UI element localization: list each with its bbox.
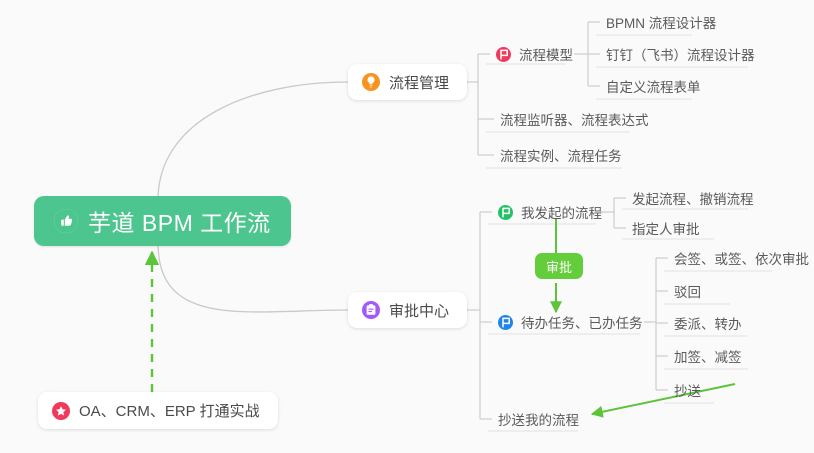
node-countersign[interactable]: 会签、或签、依次审批 [668,245,814,271]
node-label: 委派、转办 [674,313,742,333]
node-process-model[interactable]: 流程模型 [490,41,581,67]
mindmap-canvas: 芋道 BPM 工作流 流程管理 流程模型 BPMN 流程设计器 钉钉（飞书）流程… [0,0,814,453]
node-my-started-process[interactable]: 我发起的流程 [492,199,610,225]
node-label: 会签、或签、依次审批 [674,248,809,268]
node-label: 加签、减签 [674,346,742,366]
node-label: 流程模型 [519,44,573,64]
edge-root-to-process-management [158,82,348,200]
node-cc-my-process[interactable]: 抄送我的流程 [492,406,587,432]
node-delegate-transfer[interactable]: 委派、转办 [668,310,750,336]
node-label: 自定义流程表单 [606,76,701,96]
flag-red-icon [496,47,511,62]
node-label: 抄送我的流程 [498,409,579,429]
branch-process-management[interactable]: 流程管理 [348,64,467,100]
node-label: 驳回 [674,281,701,301]
node-label: 流程监听器、流程表达式 [500,109,649,129]
clipboard-icon [362,301,380,319]
node-dingtalk-feishu-designer[interactable]: 钉钉（飞书）流程设计器 [600,41,763,67]
footer-node-label: OA、CRM、ERP 打通实战 [79,400,260,421]
node-bpmn-designer[interactable]: BPMN 流程设计器 [600,9,724,35]
node-listener-expression[interactable]: 流程监听器、流程表达式 [494,106,657,132]
node-reject[interactable]: 驳回 [668,278,709,304]
node-label: BPMN 流程设计器 [606,12,716,32]
footer-node-oa-crm-erp[interactable]: OA、CRM、ERP 打通实战 [38,392,278,429]
flag-blue-icon [498,315,513,330]
node-label: 钉钉（飞书）流程设计器 [606,44,755,64]
branch-label: 流程管理 [389,72,449,93]
node-start-cancel-process[interactable]: 发起流程、撤销流程 [626,185,762,211]
flag-green-icon [498,205,513,220]
approval-badge[interactable]: 审批 [535,253,583,279]
edge-root-to-approval-center [158,243,348,312]
badge-label: 审批 [546,257,572,276]
lightbulb-icon [362,73,380,91]
node-label: 指定人审批 [632,218,700,238]
node-assignee-approval[interactable]: 指定人审批 [626,215,708,241]
node-label: 待办任务、已办任务 [521,312,643,332]
node-label: 发起流程、撤销流程 [632,188,754,208]
branch-approval-center[interactable]: 审批中心 [348,292,467,328]
arrow-cc-to-ccmyprocess [592,384,735,414]
thumbs-up-icon [54,209,78,233]
node-add-remove-sign[interactable]: 加签、减签 [668,343,750,369]
node-carbon-copy[interactable]: 抄送 [668,377,709,403]
star-icon [52,402,70,420]
node-label: 流程实例、流程任务 [500,145,622,165]
node-instance-task[interactable]: 流程实例、流程任务 [494,142,630,168]
node-label: 我发起的流程 [521,202,602,222]
branch-label: 审批中心 [389,300,449,321]
root-node[interactable]: 芋道 BPM 工作流 [34,196,291,246]
node-custom-process-form[interactable]: 自定义流程表单 [600,73,709,99]
node-todo-done-task[interactable]: 待办任务、已办任务 [492,309,651,335]
root-label: 芋道 BPM 工作流 [88,204,271,238]
node-label: 抄送 [674,380,701,400]
